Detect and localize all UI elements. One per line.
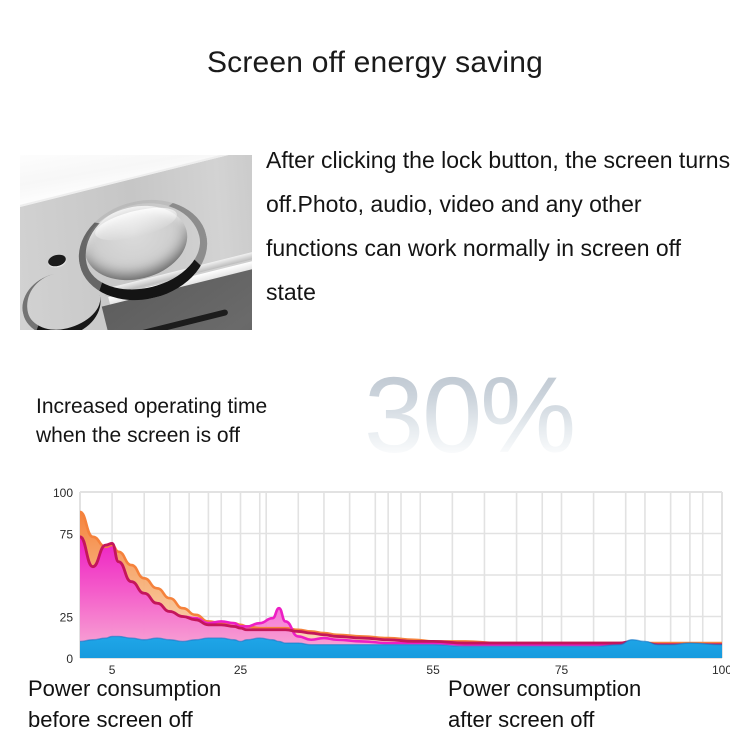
svg-text:100: 100 [712,663,730,675]
chart-svg: 025751005255575100 [40,480,730,675]
y-axis-labels: 02575100 [53,486,73,666]
svg-text:55: 55 [426,663,440,675]
power-consumption-chart: 025751005255575100 [40,480,730,675]
stats-sub-heading: Increased operating time when the screen… [36,392,267,450]
product-photo [20,155,252,330]
page-title: Screen off energy saving [0,46,750,80]
percentage-watermark: 30% [364,361,574,469]
svg-text:25: 25 [60,611,74,625]
caption-before-screen-off: Power consumption before screen off [28,673,221,735]
caption-after-screen-off: Power consumption after screen off [448,673,641,735]
svg-text:75: 75 [60,528,74,542]
feature-description: After clicking the lock button, the scre… [266,138,736,314]
svg-text:0: 0 [66,652,73,666]
svg-text:100: 100 [53,486,73,500]
photo-background [20,155,252,330]
svg-text:25: 25 [234,663,248,675]
